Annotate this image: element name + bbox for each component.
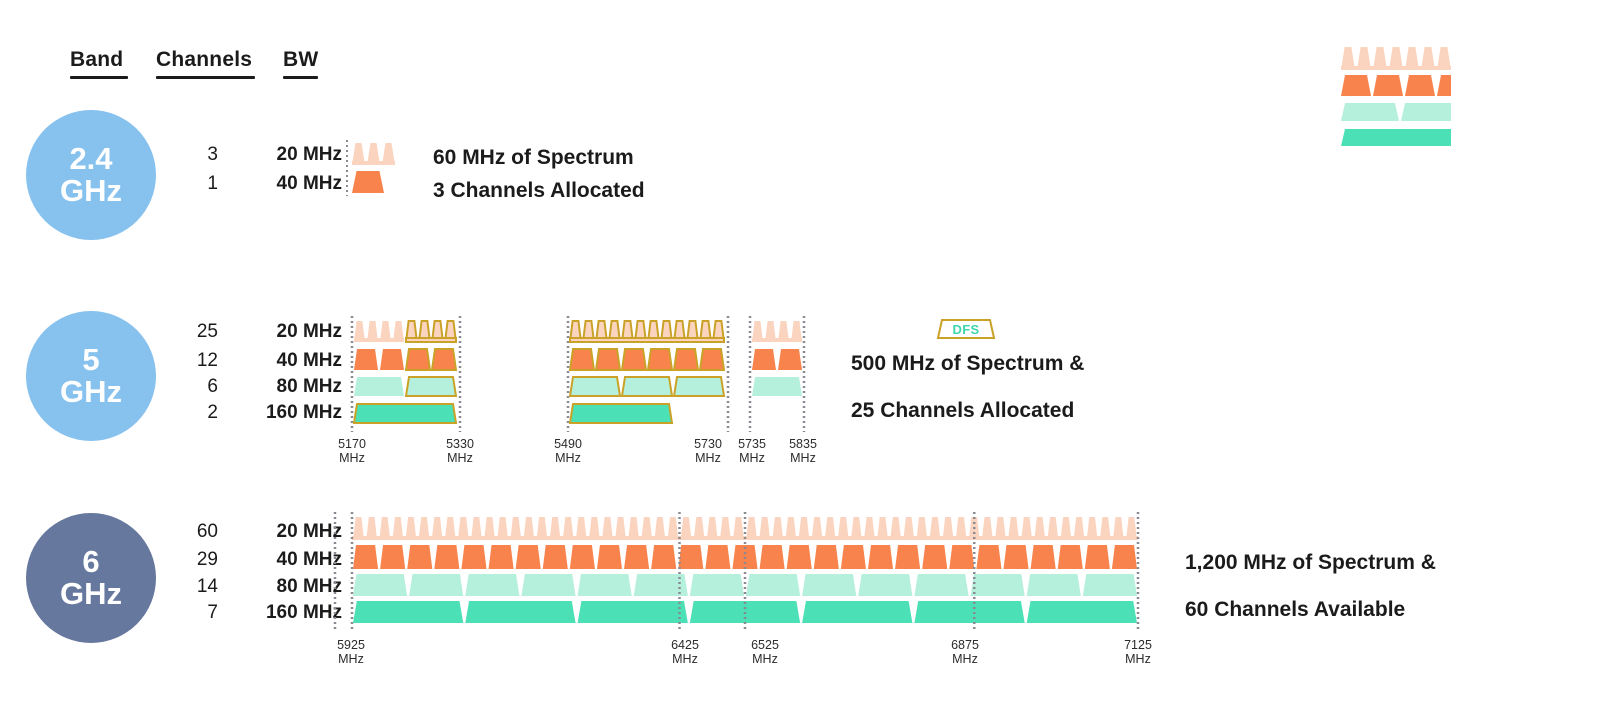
bars-40mhz-5-unii1 — [354, 349, 404, 370]
band-circle-6-unit: GHz — [60, 578, 122, 610]
tick-6875: 6875 MHz — [935, 638, 995, 666]
band-5-row-3: 2 160 MHz — [176, 402, 342, 424]
bars-160mhz-5-unii1-dfs — [354, 404, 456, 423]
channel-width-key-svg — [1340, 45, 1460, 157]
band-circle-6-value: 6 — [82, 546, 99, 578]
band-6-row-0: 60 20 MHz — [176, 521, 342, 543]
band-6-channels-80: 14 — [176, 576, 218, 598]
key-row-80mhz — [1341, 103, 1451, 121]
header-band-rule — [70, 76, 128, 79]
band-6-bw-160: 160 MHz — [250, 602, 342, 624]
band-5-bw-160: 160 MHz — [250, 402, 342, 424]
band-5-summary: 500 MHz of Spectrum & 25 Channels Alloca… — [851, 348, 1084, 427]
band-2-4-summary-line-1: 3 Channels Allocated — [433, 175, 645, 208]
spectrum-6-svg — [346, 512, 1146, 632]
tick-5835-value: 5835 — [773, 437, 833, 451]
bars-80mhz-5-unii2c-dfs — [570, 377, 724, 396]
band-circle-5: 5 GHz — [26, 311, 156, 441]
bars-40mhz-5-unii2a-dfs — [406, 349, 456, 370]
channel-width-key — [1340, 45, 1460, 157]
band-5-channels-40: 12 — [176, 350, 218, 372]
band-6-summary-line-0: 1,200 MHz of Spectrum & — [1185, 547, 1436, 580]
spectrum-block-5 — [346, 316, 816, 434]
tick-5490-value: 5490 — [538, 437, 598, 451]
band-6-summary: 1,200 MHz of Spectrum & 60 Channels Avai… — [1185, 547, 1436, 626]
tick-5835: 5835 MHz — [773, 437, 833, 465]
band-6-row-1: 29 40 MHz — [176, 549, 342, 571]
header-band: Band — [70, 48, 123, 72]
spectrum-block-6 — [346, 512, 1146, 632]
band-2-4-summary-line-0: 60 MHz of Spectrum — [433, 142, 645, 175]
header-bw-rule — [283, 76, 318, 79]
tick-5330-value: 5330 — [430, 437, 490, 451]
key-row-160mhz — [1341, 129, 1451, 146]
band-5-channels-20: 25 — [176, 321, 218, 343]
tick-5330-unit: MHz — [430, 451, 490, 465]
band-circle-2-4-value: 2.4 — [69, 143, 112, 175]
band-6-row-2: 14 80 MHz — [176, 576, 342, 598]
band-2-4-channels-20: 3 — [176, 144, 218, 166]
bars-20mhz-2-4 — [352, 143, 395, 165]
tick-6525: 6525 MHz — [735, 638, 795, 666]
bars-20mhz-5-unii1 — [354, 321, 404, 342]
tick-6525-value: 6525 — [735, 638, 795, 652]
tick-6875-value: 6875 — [935, 638, 995, 652]
tick-6425: 6425 MHz — [655, 638, 715, 666]
bars-20mhz-5-unii2c-dfs — [570, 321, 724, 342]
key-row-20mhz — [1341, 47, 1451, 70]
band-6-channels-20: 60 — [176, 521, 218, 543]
bars-20mhz-5-unii2a-dfs — [406, 321, 456, 342]
tick-5170-value: 5170 — [322, 437, 382, 451]
band-5-channels-80: 6 — [176, 376, 218, 398]
tick-6425-value: 6425 — [655, 638, 715, 652]
bars-40mhz-2-4 — [352, 171, 384, 193]
bars-40mhz-5-unii3 — [752, 349, 802, 370]
band-2-4-bw-20: 20 MHz — [250, 144, 342, 166]
tick-7125-value: 7125 — [1108, 638, 1168, 652]
tick-7125: 7125 MHz — [1108, 638, 1168, 666]
tick-5925-unit: MHz — [321, 652, 381, 666]
band-6-channels-40: 29 — [176, 549, 218, 571]
dfs-legend: DFS — [937, 318, 995, 340]
tick-5330: 5330 MHz — [430, 437, 490, 465]
tick-5835-unit: MHz — [773, 451, 833, 465]
band-2-4-channels-40: 1 — [176, 173, 218, 195]
band-circle-6: 6 GHz — [26, 513, 156, 643]
band-5-bw-20: 20 MHz — [250, 321, 342, 343]
spectrum-2-4-svg — [346, 140, 406, 196]
header-bw: BW — [283, 48, 318, 72]
tick-7125-unit: MHz — [1108, 652, 1168, 666]
spectrum-5-svg — [346, 316, 816, 434]
header-channels: Channels — [156, 48, 252, 72]
band-2-4-row-0: 3 20 MHz — [176, 144, 342, 166]
band-6-summary-line-1: 60 Channels Available — [1185, 594, 1436, 627]
band-2-4-summary: 60 MHz of Spectrum 3 Channels Allocated — [433, 142, 645, 207]
band-6-bw-80: 80 MHz — [250, 576, 342, 598]
tick-5170-unit: MHz — [322, 451, 382, 465]
band-5-row-1: 12 40 MHz — [176, 350, 342, 372]
spectrum-block-2-4 — [346, 140, 406, 196]
bars-20mhz-5-unii3 — [752, 321, 802, 342]
tick-5490-unit: MHz — [538, 451, 598, 465]
bars-160mhz-5-unii2c-dfs — [570, 404, 672, 423]
bars-80mhz-5-unii3 — [752, 377, 802, 396]
band-5-bw-80: 80 MHz — [250, 376, 342, 398]
band-5-row-2: 6 80 MHz — [176, 376, 342, 398]
tick-5170: 5170 MHz — [322, 437, 382, 465]
tick-5925-value: 5925 — [321, 638, 381, 652]
tick-6425-unit: MHz — [655, 652, 715, 666]
band-6-bw-40: 40 MHz — [250, 549, 342, 571]
key-row-40mhz — [1341, 75, 1451, 96]
band-2-4-bw-40: 40 MHz — [250, 173, 342, 195]
tick-6525-unit: MHz — [735, 652, 795, 666]
band-2-4-row-1: 1 40 MHz — [176, 173, 342, 195]
band-circle-5-value: 5 — [82, 344, 99, 376]
band-circle-2-4-unit: GHz — [60, 175, 122, 207]
band-5-summary-line-1: 25 Channels Allocated — [851, 395, 1084, 428]
header-channels-rule — [156, 76, 255, 79]
tick-6875-unit: MHz — [935, 652, 995, 666]
band-6-row-3: 7 160 MHz — [176, 602, 342, 624]
band-6-bw-20: 20 MHz — [250, 521, 342, 543]
band-5-row-0: 25 20 MHz — [176, 321, 342, 343]
band-5-bw-40: 40 MHz — [250, 350, 342, 372]
band-circle-5-unit: GHz — [60, 376, 122, 408]
bars-80mhz-5-unii2a-dfs — [406, 377, 456, 396]
dfs-legend-label: DFS — [937, 318, 995, 340]
band-circle-2-4: 2.4 GHz — [26, 110, 156, 240]
bars-40mhz-5-unii2c-dfs — [570, 349, 724, 370]
tick-5925: 5925 MHz — [321, 638, 381, 666]
bars-80mhz-5-unii1 — [354, 377, 404, 396]
band-6-channels-160: 7 — [176, 602, 218, 624]
tick-5490: 5490 MHz — [538, 437, 598, 465]
band-5-summary-line-0: 500 MHz of Spectrum & — [851, 348, 1084, 381]
band-5-channels-160: 2 — [176, 402, 218, 424]
